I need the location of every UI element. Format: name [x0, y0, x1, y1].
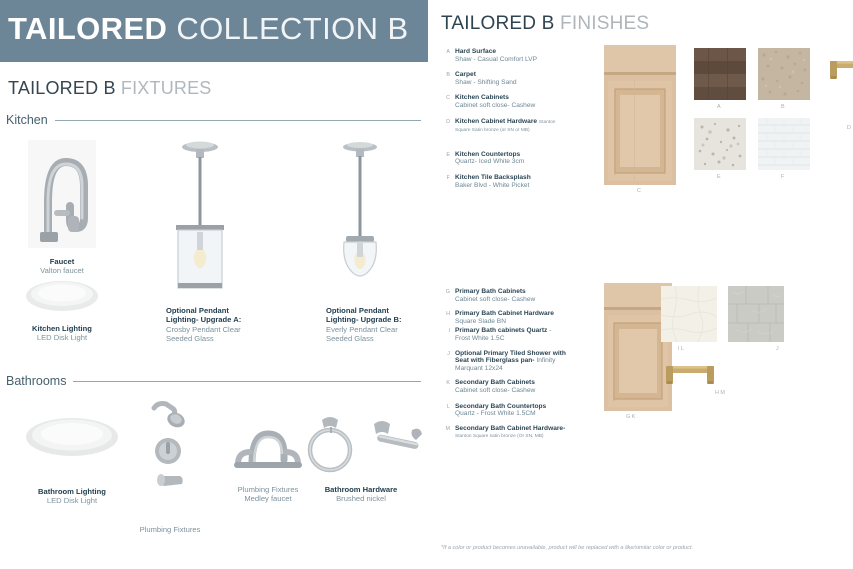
legend-item-i: I Primary Bath cabinets Quartz - Frost W… — [440, 327, 568, 342]
legend-text-e: Kitchen Countertops Quartz- Iced White 3… — [455, 151, 524, 166]
group-label-bathrooms: Bathrooms — [6, 374, 66, 388]
legend-desc-g: Cabinet soft close- Cashew — [455, 296, 535, 303]
swatch-bath-hardware-pull: H M — [660, 357, 720, 402]
product-bathroom-hardware: Bathroom Hardware Brushed nickel — [296, 412, 426, 504]
legend-item-l: L Secondary Bath Countertops Quartz - Fr… — [440, 403, 568, 418]
legend-text-m: Secondary Bath Cabinet Hardware- Stanton… — [455, 425, 565, 441]
product-faucet-name: Faucet — [10, 257, 114, 266]
product-bathroom-hardware-caption: Bathroom Hardware Brushed nickel — [296, 485, 426, 504]
legend-desc-k: Cabinet soft close- Cashew — [455, 387, 535, 394]
page-title-light: COLLECTION B — [176, 11, 408, 46]
legend-text-k: Secondary Bath Cabinets Cabinet soft clo… — [455, 379, 535, 394]
fixtures-title-grey: FIXTURES — [121, 78, 212, 98]
legend-name-f: Kitchen Tile Backsplash — [455, 174, 531, 181]
swatch-shower-tile: J — [728, 286, 784, 347]
legend-text-f: Kitchen Tile Backsplash Baker Blvd - Whi… — [455, 174, 531, 189]
finishes-column: TAILORED B FINISHES A Hard Surface Shaw … — [428, 0, 853, 569]
legend-item-a: A Hard Surface Shaw - Casual Comfort LVP — [440, 48, 560, 63]
legend-name-d: Kitchen Cabinet Hardware — [455, 118, 537, 125]
legend-desc-c: Cabinet soft close- Cashew — [455, 102, 535, 109]
swatch-key-d: D — [847, 125, 851, 131]
page-title-bold: TAILORED — [8, 11, 167, 46]
swatch-key-f: F — [781, 174, 784, 180]
product-kitchen-lighting-name: Kitchen Lighting — [10, 324, 114, 333]
finishes-legend-lower: G Primary Bath Cabinets Cabinet soft clo… — [440, 288, 568, 441]
swatch-key-a: A — [717, 104, 721, 110]
legend-name-c: Kitchen Cabinets — [455, 94, 509, 101]
legend-key-a: A — [440, 48, 450, 55]
spec-sheet-page: TAILORED COLLECTION B TAILORED B FIXTURE… — [0, 0, 853, 569]
product-kitchen-lighting-caption: Kitchen Lighting LED Disk Light — [10, 324, 114, 343]
legend-key-e: E — [440, 151, 450, 158]
product-faucet: Faucet Valton faucet — [10, 140, 114, 276]
legend-key-f: F — [440, 174, 450, 181]
group-label-kitchen: Kitchen — [6, 113, 48, 127]
legend-item-g: G Primary Bath Cabinets Cabinet soft clo… — [440, 288, 568, 303]
legend-item-m: M Secondary Bath Cabinet Hardware- Stant… — [440, 425, 568, 441]
legend-item-f: F Kitchen Tile Backsplash Baker Blvd - W… — [440, 174, 560, 189]
product-bathroom-hardware-name: Bathroom Hardware — [296, 485, 426, 494]
legend-desc-e: Quartz- Iced White 3cm — [455, 158, 524, 165]
product-pendant-a: Optional Pendant Lighting- Upgrade A: Cr… — [140, 140, 260, 343]
legend-item-k: K Secondary Bath Cabinets Cabinet soft c… — [440, 379, 568, 394]
pendant-a-image — [140, 140, 260, 300]
finishes-section-title: TAILORED B FINISHES — [441, 13, 649, 35]
legend-name-g: Primary Bath Cabinets — [455, 288, 526, 295]
legend-text-d: Kitchen Cabinet Hardware Stanton Square … — [455, 118, 560, 135]
swatch-kitchen-hardware-pull: D — [824, 52, 853, 97]
group-header-bathrooms: Bathrooms — [6, 374, 421, 388]
swatch-key-j: J — [776, 346, 779, 352]
swatch-key-b: B — [781, 104, 785, 110]
legend-text-a: Hard Surface Shaw - Casual Comfort LVP — [455, 48, 537, 63]
legend-name-a: Hard Surface — [455, 48, 496, 55]
legend-name-h: Primary Bath Cabinet Hardware — [455, 310, 554, 317]
legend-item-d: D Kitchen Cabinet Hardware Stanton Squar… — [440, 118, 560, 135]
swatch-kitchen-cabinet-door: C — [604, 45, 676, 190]
legend-item-c: C Kitchen Cabinets Cabinet soft close- C… — [440, 94, 560, 109]
fixtures-section-title: TAILORED B FIXTURES — [8, 78, 212, 99]
group-header-kitchen: Kitchen — [6, 113, 421, 127]
legend-key-g: G — [440, 288, 450, 295]
swatch-kitchen-countertop: E — [694, 118, 746, 175]
product-kitchen-lighting: Kitchen Lighting LED Disk Light — [10, 276, 114, 343]
legend-key-c: C — [440, 94, 450, 101]
disclaimer-footnote: *If a color or product becomes unavailab… — [441, 545, 693, 551]
product-plumbing-fixtures-shower-caption: Plumbing Fixtures — [110, 525, 230, 534]
product-pendant-a-name: Optional Pendant Lighting- Upgrade A: — [166, 306, 260, 325]
product-plumbing-fixtures-shower-name: Plumbing Fixtures — [110, 525, 230, 534]
legend-name-b: Carpet — [455, 71, 476, 78]
page-title: TAILORED COLLECTION B — [8, 9, 409, 49]
legend-text-b: Carpet Shaw - Shifting Sand — [455, 71, 517, 86]
legend-desc-m: Stanton Square satin bronze (Or SN, MB) — [455, 434, 544, 439]
legend-key-i: I — [440, 327, 450, 334]
product-pendant-b-sub: Everly Pendant Clear Seeded Glass — [326, 325, 420, 344]
swatch-key-i-l: I L — [678, 346, 684, 352]
legend-key-k: K — [440, 379, 450, 386]
legend-key-j: J — [440, 350, 450, 357]
legend-desc-a: Shaw - Casual Comfort LVP — [455, 56, 537, 63]
bath-hardware-image — [296, 412, 426, 479]
legend-key-d: D — [440, 118, 450, 125]
product-pendant-b: Optional Pendant Lighting- Upgrade B: Ev… — [300, 140, 420, 343]
swatch-hard-surface: A — [694, 48, 746, 105]
legend-key-m: M — [440, 425, 450, 432]
pendant-b-image — [300, 140, 420, 300]
product-pendant-a-sub: Crosby Pendant Clear Seeded Glass — [166, 325, 260, 344]
finishes-legend-upper: A Hard Surface Shaw - Casual Comfort LVP… — [440, 48, 560, 189]
swatch-bath-quartz: I L — [661, 286, 717, 347]
legend-desc-f: Baker Blvd - White Picket — [455, 182, 529, 189]
finishes-title-grey: FINISHES — [560, 13, 649, 34]
legend-key-l: L — [440, 403, 450, 410]
legend-text-i: Primary Bath cabinets Quartz - Frost Whi… — [455, 327, 568, 342]
divider-kitchen — [55, 120, 421, 121]
disk-light-image — [10, 276, 114, 321]
fixtures-column: TAILORED COLLECTION B TAILORED B FIXTURE… — [0, 0, 428, 569]
legend-name-m: Secondary Bath Cabinet Hardware- — [455, 425, 565, 432]
legend-text-l: Secondary Bath Countertops Quartz - Fros… — [455, 403, 546, 418]
product-pendant-b-caption: Optional Pendant Lighting- Upgrade B: Ev… — [300, 306, 420, 343]
swatch-key-c: C — [637, 188, 641, 194]
product-faucet-sub: Valton faucet — [10, 266, 114, 275]
finishes-title-dark: TAILORED B — [441, 13, 555, 34]
legend-name-e: Kitchen Countertops — [455, 151, 520, 158]
legend-desc-b: Shaw - Shifting Sand — [455, 79, 517, 86]
product-faucet-caption: Faucet Valton faucet — [10, 257, 114, 276]
swatch-carpet: B — [758, 48, 810, 105]
kitchen-faucet-image — [10, 140, 114, 253]
swatch-kitchen-backsplash: F — [758, 118, 810, 175]
legend-item-b: B Carpet Shaw - Shifting Sand — [440, 71, 560, 86]
legend-text-g: Primary Bath Cabinets Cabinet soft close… — [455, 288, 535, 303]
swatch-key-e: E — [717, 174, 721, 180]
legend-text-j: Optional Primary Tiled Shower with Seat … — [455, 350, 568, 373]
fixtures-title-dark: TAILORED B — [8, 78, 116, 98]
legend-name-i: Primary Bath cabinets Quartz — [455, 327, 547, 334]
legend-name-l: Secondary Bath Countertops — [455, 403, 546, 410]
legend-desc-l: Quartz - Frost White 1.5CM — [455, 410, 536, 417]
legend-key-h: H — [440, 310, 450, 317]
swatch-key-g-k: G K — [626, 414, 635, 420]
product-pendant-b-name: Optional Pendant Lighting- Upgrade B: — [326, 306, 420, 325]
legend-item-h: H Primary Bath Cabinet Hardware Square S… — [440, 310, 568, 325]
legend-name-k: Secondary Bath Cabinets — [455, 379, 535, 386]
legend-item-j: J Optional Primary Tiled Shower with Sea… — [440, 350, 568, 373]
divider-bathrooms — [73, 381, 421, 382]
legend-desc-h: Square Slade BN — [455, 318, 506, 325]
legend-text-h: Primary Bath Cabinet Hardware Square Sla… — [455, 310, 568, 325]
legend-text-c: Kitchen Cabinets Cabinet soft close- Cas… — [455, 94, 535, 109]
swatch-key-h-m: H M — [715, 390, 725, 396]
legend-key-b: B — [440, 71, 450, 78]
product-kitchen-lighting-sub: LED Disk Light — [10, 333, 114, 342]
product-bathroom-hardware-sub: Brushed nickel — [296, 494, 426, 503]
legend-item-e: E Kitchen Countertops Quartz- Iced White… — [440, 151, 560, 166]
product-pendant-a-caption: Optional Pendant Lighting- Upgrade A: Cr… — [140, 306, 260, 343]
